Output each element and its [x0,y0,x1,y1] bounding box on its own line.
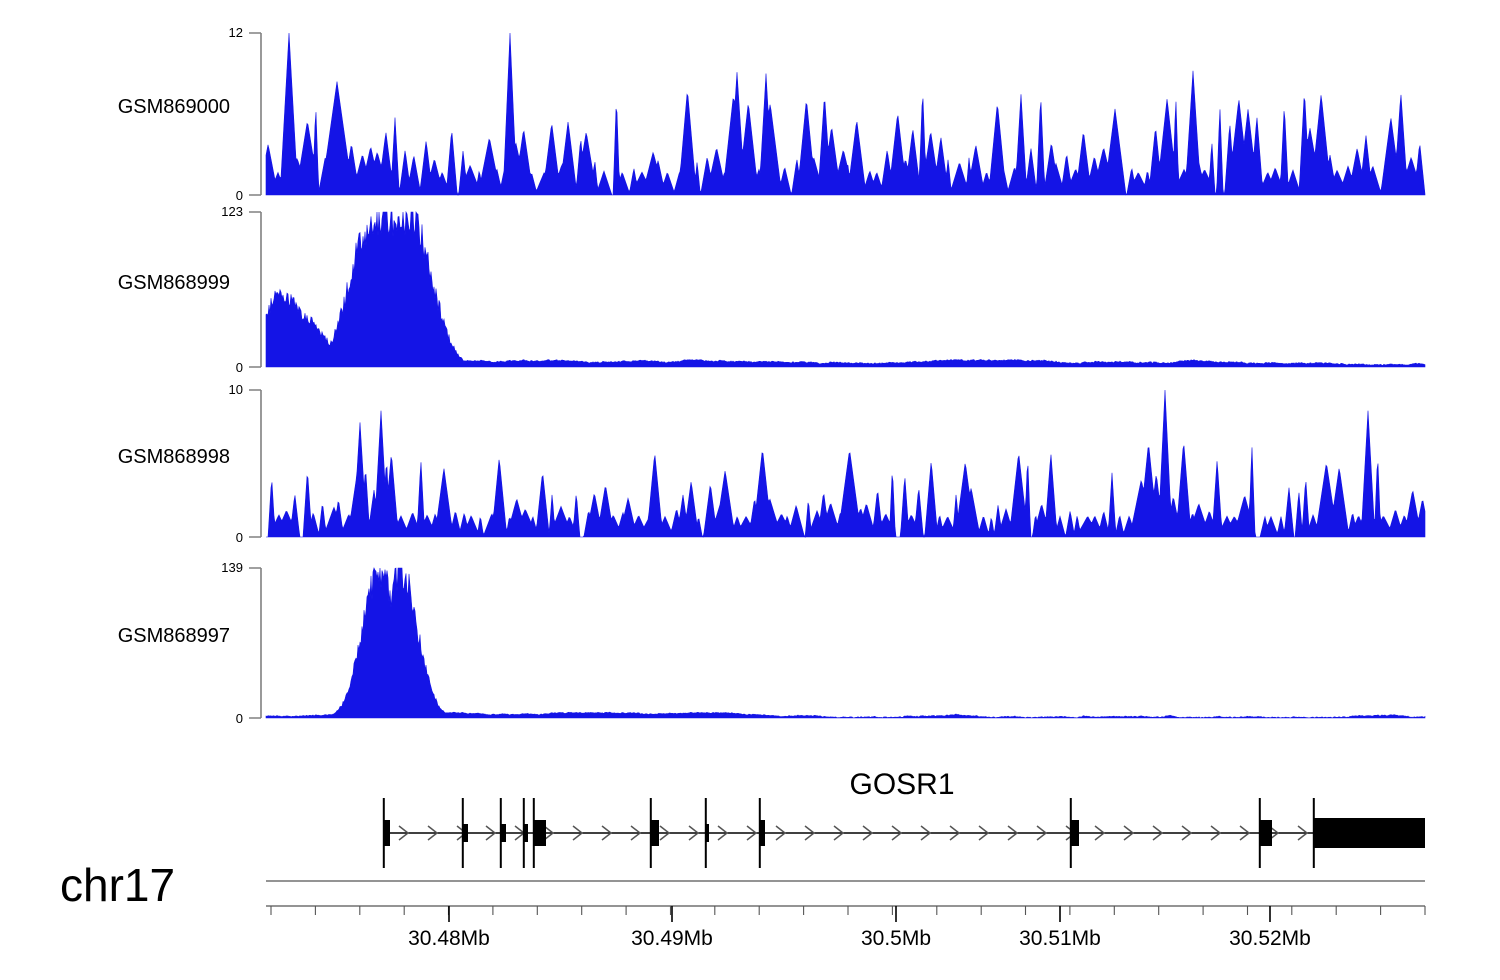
coverage-track-gsm868999[interactable]: GSM8689991230 [0,198,1500,375]
chromosome-label: chr17 [60,858,175,912]
ruler-tick-label-1: 30.48Mb [408,927,490,951]
gene-annotation-track[interactable]: GOSR1 [0,755,1500,880]
ruler-tick-label-5: 30.52Mb [1229,927,1311,951]
gene-model-graphic[interactable] [0,755,1500,880]
gene-exon-5 [533,820,546,846]
coverage-profile-gsm868998 [0,376,1500,543]
ruler-tick-label-2: 30.49Mb [631,927,713,951]
gene-exon-11 [1313,818,1425,848]
ruler-tick-label-4: 30.51Mb [1019,927,1101,951]
coverage-track-gsm869000[interactable]: GSM869000120 [0,19,1500,203]
gene-exon-10 [1259,820,1272,846]
coverage-profile-gsm869000 [0,19,1500,201]
coverage-profile-gsm868997 [0,554,1500,724]
coverage-track-gsm868997[interactable]: GSM8689971390 [0,554,1500,726]
chromosome-ruler[interactable]: 30.48Mb30.49Mb30.5Mb30.51Mb30.52Mb [0,875,1500,980]
ruler-tick-label-3: 30.5Mb [861,927,931,951]
coverage-track-gsm868998[interactable]: GSM868998100 [0,376,1500,545]
coverage-profile-gsm868999 [0,198,1500,373]
genome-browser-view: GSM869000120GSM8689991230GSM868998100GSM… [0,0,1500,980]
